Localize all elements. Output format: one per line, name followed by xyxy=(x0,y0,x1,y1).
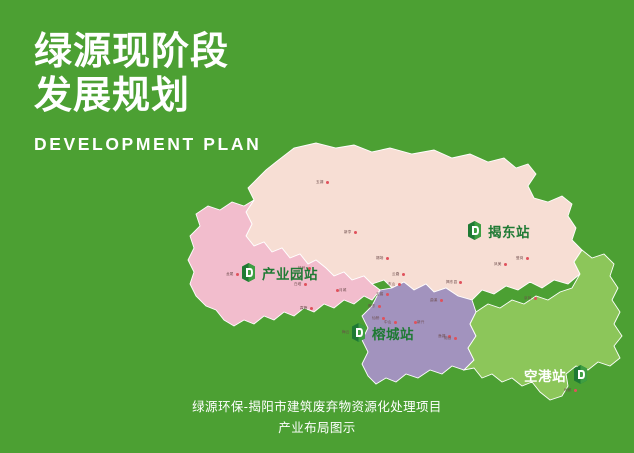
town-marker[interactable]: 磐东 xyxy=(368,304,381,309)
town-label: 玉湖 xyxy=(316,180,324,185)
town-marker[interactable]: 龙尾 xyxy=(226,272,239,277)
town-marker[interactable]: 炮台 xyxy=(444,336,457,341)
town-label: 揭东县 xyxy=(446,280,457,285)
town-marker[interactable]: 锡场 xyxy=(376,256,389,261)
town-label: 云路 xyxy=(392,272,400,277)
station-label-rongcheng: 榕城站 xyxy=(372,323,414,343)
town-dot-icon xyxy=(398,283,401,286)
town-marker[interactable]: 霖磐 xyxy=(300,306,313,311)
green-cube-logo-icon xyxy=(240,262,257,283)
town-dot-icon xyxy=(504,263,507,266)
town-marker[interactable]: 云路 xyxy=(392,272,405,277)
town-dot-icon xyxy=(326,181,329,184)
station-label-chanyeyuan: 产业园站 xyxy=(262,263,318,283)
station-marker-jiedong[interactable]: 揭东站 xyxy=(466,220,530,241)
town-dot-icon xyxy=(402,273,405,276)
town-dot-icon xyxy=(459,281,462,284)
town-label: 东山 xyxy=(388,282,396,287)
town-marker[interactable]: 揭东县 xyxy=(446,280,462,285)
page-subtitle-english: DEVELOPMENT PLAN xyxy=(34,134,364,155)
town-dot-icon xyxy=(440,299,443,302)
map-container: 揭东站 产业园站 榕城站 空港站 玉湖 新亨 锡场 桂岭 白塔 xyxy=(176,140,634,410)
title-block: 绿源现阶段 发展规划 DEVELOPMENT PLAN xyxy=(34,30,364,155)
town-label: 月城 xyxy=(339,288,347,293)
page-title-line-1: 绿源现阶段 xyxy=(34,30,364,74)
town-label: 京冈 xyxy=(524,296,532,301)
caption-block: 绿源环保-揭阳市建筑废弃物资源化处理项目 产业布局图示 xyxy=(0,397,634,439)
green-cube-logo-icon xyxy=(466,220,483,241)
station-marker-rongcheng[interactable]: 榕城站 xyxy=(350,322,414,343)
town-label: 霖磐 xyxy=(300,306,308,311)
town-label: 梅云 xyxy=(342,330,350,335)
town-marker[interactable]: 东山 xyxy=(388,282,401,287)
poster-canvas: 绿源现阶段 发展规划 DEVELOPMENT PLAN xyxy=(0,0,634,453)
town-marker[interactable]: 登岗 xyxy=(516,256,529,261)
station-marker-konggang[interactable]: 空港站 xyxy=(524,364,589,385)
caption-line-2: 产业布局图示 xyxy=(0,418,634,439)
town-marker[interactable]: 仙桥 xyxy=(372,316,385,321)
town-dot-icon xyxy=(534,297,537,300)
town-marker[interactable]: 曲溪 xyxy=(430,298,443,303)
town-dot-icon xyxy=(304,283,307,286)
town-label: 登岗 xyxy=(516,256,524,261)
green-cube-logo-icon xyxy=(572,364,589,385)
caption-line-1: 绿源环保-揭阳市建筑废弃物资源化处理项目 xyxy=(0,397,634,418)
town-label: 锡场 xyxy=(376,256,384,261)
town-marker[interactable]: 新亨 xyxy=(344,230,357,235)
town-dot-icon xyxy=(236,273,239,276)
town-marker[interactable]: 地都 xyxy=(564,388,577,393)
town-label: 仙桥 xyxy=(372,316,380,321)
town-dot-icon xyxy=(310,307,313,310)
town-dot-icon xyxy=(386,257,389,260)
town-dot-icon xyxy=(378,305,381,308)
town-label: 龙尾 xyxy=(226,272,234,277)
station-label-jiedong: 揭东站 xyxy=(488,221,530,241)
town-dot-icon xyxy=(386,293,389,296)
town-label: 磐东 xyxy=(368,304,376,309)
town-dot-icon xyxy=(526,257,529,260)
town-marker[interactable]: 玉湖 xyxy=(316,180,329,185)
town-label: 炮台 xyxy=(444,336,452,341)
town-marker[interactable]: 月城 xyxy=(334,288,347,293)
town-marker[interactable]: 玉窖 xyxy=(376,292,389,297)
town-dot-icon xyxy=(574,389,577,392)
town-marker[interactable]: 京冈 xyxy=(524,296,537,301)
town-label: 凤美 xyxy=(494,262,502,267)
town-dot-icon xyxy=(354,231,357,234)
town-label: 新兴 xyxy=(417,320,425,325)
town-marker[interactable]: 凤美 xyxy=(494,262,507,267)
town-dot-icon xyxy=(454,337,457,340)
station-marker-chanyeyuan[interactable]: 产业园站 xyxy=(240,262,318,283)
station-label-konggang: 空港站 xyxy=(524,365,566,385)
town-label: 玉窖 xyxy=(376,292,384,297)
town-label: 新亨 xyxy=(344,230,352,235)
green-cube-logo-icon xyxy=(350,322,367,343)
town-label: 曲溪 xyxy=(430,298,438,303)
town-label: 地都 xyxy=(564,388,572,393)
page-title-line-2: 发展规划 xyxy=(34,74,364,118)
